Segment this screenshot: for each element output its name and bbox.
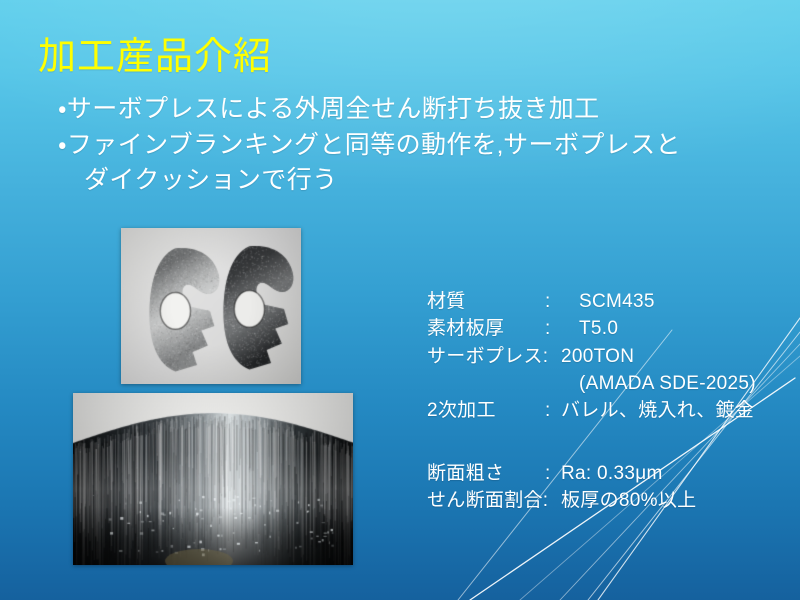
spec-secondary-colon: : <box>545 460 561 487</box>
spec-primary-row: (AMADA SDE-2025) <box>427 370 756 397</box>
spec-primary-value: SCM435 <box>579 288 655 315</box>
bullet-text-1: サーボプレスによる外周全せん断打ち抜き加工 <box>67 95 600 123</box>
bullet-text-2: ファインブランキングと同等の動作を‚サーボプレスと <box>67 131 681 159</box>
spec-secondary-row: 断面粗さ:Ra: 0.33μm <box>427 460 696 487</box>
bullet-marker-1: ・ <box>58 95 67 123</box>
spec-primary-value: (AMADA SDE-2025) <box>579 370 756 397</box>
bullet-item-2-continuation: ダイクッションで行う <box>58 163 758 199</box>
specification-table-primary: 材質:SCM435素材板厚:T5.0サーボプレス:200TON(AMADA SD… <box>427 288 756 425</box>
spec-primary-row: 素材板厚:T5.0 <box>427 315 756 342</box>
spec-primary-value: バレル、焼入れ、鍍金 <box>561 397 754 424</box>
spec-primary-label: 材質 <box>427 288 545 315</box>
shear-surface-photo <box>73 393 353 565</box>
shear-surface-image <box>73 393 353 565</box>
presentation-slide: 加工産品介紹 ・サーボプレスによる外周全せん断打ち抜き加工 ・ファインブランキン… <box>0 0 800 600</box>
bullet-item-2: ・ファインブランキングと同等の動作を‚サーボプレスと <box>58 128 758 164</box>
spec-primary-label: 2次加工 <box>427 397 545 424</box>
spec-primary-colon: : <box>545 315 561 342</box>
bullet-marker-2: ・ <box>58 131 67 159</box>
bullet-text-2-continued: ダイクッションで行う <box>84 166 338 194</box>
specification-table-secondary: 断面粗さ:Ra: 0.33μmせん断面割合:板厚の80%以上 <box>427 460 696 515</box>
spec-primary-row: サーボプレス:200TON <box>427 343 756 370</box>
spec-primary-value: T5.0 <box>579 315 618 342</box>
spec-primary-colon: : <box>545 288 561 315</box>
spec-primary-row: 材質:SCM435 <box>427 288 756 315</box>
spec-secondary-value: 板厚の80%以上 <box>561 487 696 514</box>
stamped-parts-photo <box>121 228 301 384</box>
spec-primary-value: 200TON <box>561 343 634 370</box>
bullet-item-1: ・サーボプレスによる外周全せん断打ち抜き加工 <box>58 92 758 128</box>
spec-secondary-row: せん断面割合:板厚の80%以上 <box>427 487 696 514</box>
bullet-list: ・サーボプレスによる外周全せん断打ち抜き加工 ・ファインブランキングと同等の動作… <box>58 92 758 199</box>
spec-primary-colon: : <box>545 397 561 424</box>
stamped-parts-image <box>121 228 301 384</box>
spec-primary-label: 素材板厚 <box>427 315 545 342</box>
slide-title: 加工産品介紹 <box>38 36 272 80</box>
spec-secondary-label: 断面粗さ <box>427 460 545 487</box>
spec-secondary-value: Ra: 0.33μm <box>561 460 663 487</box>
spec-primary-label: サーボプレス: <box>427 343 561 370</box>
spec-secondary-label: せん断面割合: <box>427 487 561 514</box>
spec-primary-row: 2次加工:バレル、焼入れ、鍍金 <box>427 397 756 424</box>
